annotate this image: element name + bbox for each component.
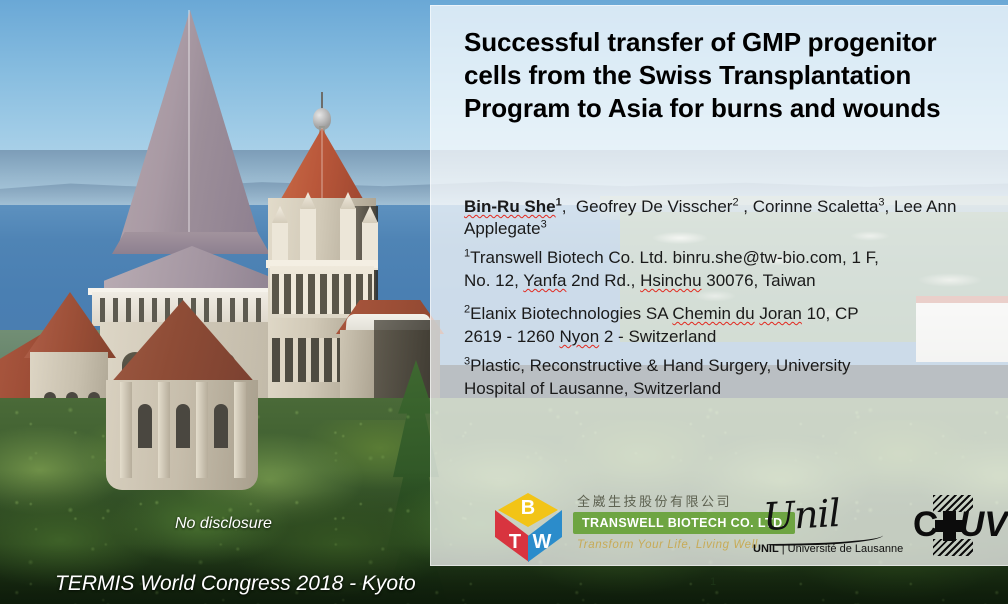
author-lead: Bin-Ru She1 bbox=[464, 197, 562, 216]
unil-script-wordmark: Unil bbox=[762, 491, 841, 539]
author-sep: , bbox=[739, 197, 753, 216]
tower-pinnacle bbox=[300, 208, 316, 266]
author-2: Geofrey De Visscher bbox=[576, 197, 733, 216]
cube-letter-w: W bbox=[533, 531, 552, 554]
author-3: Corinne Scaletta bbox=[753, 197, 879, 216]
affiliation-3-line1: Plastic, Reconstructive & Hand Surgery, … bbox=[470, 356, 850, 375]
transwell-cube-icon: B T W bbox=[491, 493, 565, 563]
content-panel: Successful transfer of GMP progenitor ce… bbox=[430, 5, 1008, 566]
chuv-logo: C UV bbox=[913, 495, 1005, 551]
unil-logo: Unil UNIL | Université de Lausanne bbox=[753, 493, 893, 559]
affiliation-1-spell-yanfa: Yanfa bbox=[523, 271, 566, 290]
affiliation-2: 2Elanix Biotechnologies SA Chemin du Jor… bbox=[464, 302, 964, 348]
chuv-hatch-bottom bbox=[933, 539, 973, 556]
cathedral-main-spire bbox=[120, 10, 260, 240]
apse-window bbox=[138, 404, 152, 448]
spire-ridge bbox=[188, 10, 190, 235]
chuv-letters-uv: UV bbox=[959, 507, 1008, 542]
affiliation-2-line1c: 10, CP bbox=[802, 304, 859, 323]
affiliation-1-line2b: 2nd Rd., bbox=[566, 271, 640, 290]
conference-caption: TERMIS World Congress 2018 - Kyoto bbox=[55, 572, 416, 596]
unil-subtitle-rest: | Université de Lausanne bbox=[779, 543, 904, 555]
affiliation-3-line2: Hospital of Lausanne, Switzerland bbox=[464, 379, 721, 398]
apse-buttress bbox=[234, 382, 246, 478]
affiliation-2-spell-chemin: Chemin du bbox=[672, 304, 754, 323]
presentation-slide: No disclosure TERMIS World Congress 2018… bbox=[0, 0, 1008, 604]
affiliation-2-line1a: Elanix Biotechnologies SA bbox=[470, 304, 672, 323]
author-sep: , bbox=[885, 197, 894, 216]
apse-window bbox=[214, 404, 228, 448]
bell-tower-roof-hip bbox=[321, 128, 323, 202]
author-lead-name: Bin-Ru She bbox=[464, 197, 556, 216]
author-sep: , bbox=[562, 197, 576, 216]
unil-subtitle: UNIL | Université de Lausanne bbox=[753, 543, 903, 555]
apse-buttress bbox=[196, 382, 208, 478]
apse-window bbox=[176, 404, 190, 448]
disclosure-caption: No disclosure bbox=[175, 515, 272, 533]
logo-strip: B T W 全崴生技股份有限公司 TRANSWELL BIOTECH CO. L… bbox=[461, 489, 1001, 565]
author-4-sup: 3 bbox=[541, 218, 547, 230]
affiliation-3: 3Plastic, Reconstructive & Hand Surgery,… bbox=[464, 354, 964, 400]
affiliation-2-line2b: 2 - Switzerland bbox=[599, 327, 716, 346]
affiliation-1: 1Transwell Biotech Co. Ltd. binru.she@tw… bbox=[464, 246, 964, 292]
apse-buttress bbox=[158, 382, 170, 478]
tower-pinnacle bbox=[340, 208, 356, 266]
cube-letter-b: B bbox=[521, 497, 535, 520]
affiliation-2-spell-nyon: Nyon bbox=[559, 327, 599, 346]
transwell-biotech-logo: B T W 全崴生技股份有限公司 TRANSWELL BIOTECH CO. L… bbox=[491, 489, 741, 563]
transwell-tagline: Transform Your Life, Living Well bbox=[577, 539, 758, 551]
transwell-chinese-name: 全崴生技股份有限公司 bbox=[577, 491, 732, 510]
affiliation-1-line1: Transwell Biotech Co. Ltd. binru.she@tw-… bbox=[470, 248, 879, 267]
affiliation-2-spell-joran: Joran bbox=[759, 304, 802, 323]
affiliation-1-line2c: 30076, Taiwan bbox=[702, 271, 816, 290]
affiliation-1-line2a: No. 12, bbox=[464, 271, 523, 290]
slide-number: 1 bbox=[710, 576, 716, 588]
slide-title: Successful transfer of GMP progenitor ce… bbox=[464, 26, 964, 125]
affiliation-2-line2a: 2619 - 1260 bbox=[464, 327, 559, 346]
cube-letter-t: T bbox=[509, 531, 521, 554]
author-list: Bin-Ru She1, Geofrey De Visscher2 , Cori… bbox=[464, 196, 984, 240]
affiliation-1-spell-hsinchu: Hsinchu bbox=[640, 271, 701, 290]
unil-subtitle-bold: UNIL bbox=[753, 543, 779, 555]
apse-buttress bbox=[120, 382, 132, 478]
